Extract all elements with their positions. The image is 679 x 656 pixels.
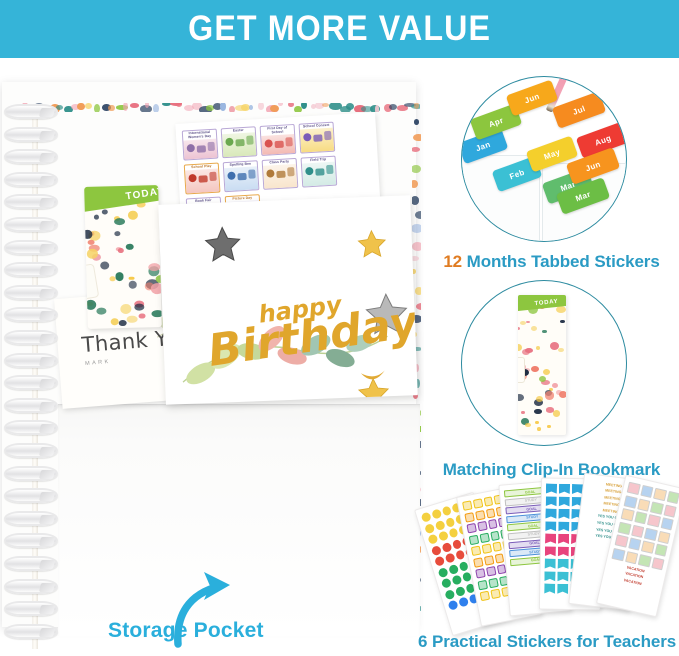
binding-ring	[4, 330, 58, 345]
icon-sticker	[490, 589, 500, 600]
dot-sticker	[444, 552, 455, 563]
floral-petal	[375, 105, 380, 112]
event-sticker: Field Trip	[301, 156, 338, 188]
dot-sticker	[437, 567, 448, 578]
floral-petal	[249, 105, 253, 110]
flag-sticker	[545, 559, 556, 569]
icon-sticker	[477, 579, 487, 590]
floral-dot	[94, 215, 99, 220]
icon-sticker	[479, 532, 489, 543]
floral-petal	[412, 165, 421, 173]
event-sticker: International Women's Day	[182, 129, 219, 161]
floral-dot	[525, 348, 533, 354]
binding-ring	[4, 533, 58, 548]
binding-ring	[4, 624, 58, 639]
icon-sticker	[483, 496, 493, 507]
feature-circle-bookmark: TODAY	[461, 280, 627, 446]
floral-dot	[115, 272, 124, 281]
binding-ring	[4, 307, 58, 322]
floral-dot	[129, 276, 135, 280]
dot-sticker	[434, 556, 445, 567]
floral-dot	[531, 326, 537, 331]
binding-ring	[4, 285, 58, 300]
event-sticker: Class Party	[262, 158, 299, 190]
flag-sticker	[558, 521, 569, 531]
month-tab-label: Jun	[523, 91, 541, 105]
floral-dot	[96, 308, 107, 315]
floral-petal	[108, 105, 114, 112]
floral-petal	[412, 147, 420, 152]
floral-dot	[534, 409, 542, 414]
dot-sticker	[444, 589, 455, 600]
event-sticker-art	[302, 162, 336, 187]
image-sticker	[637, 498, 651, 511]
floral-dot	[559, 391, 566, 398]
event-sticker-art	[222, 132, 256, 157]
dot-sticker	[451, 574, 462, 585]
event-sticker: First Day of School	[260, 124, 297, 156]
floral-dot	[547, 425, 550, 428]
binding-ring	[4, 601, 58, 616]
binding-ring	[4, 127, 58, 142]
floral-dot	[553, 410, 560, 416]
floral-petal	[412, 242, 421, 251]
dot-sticker	[458, 596, 469, 607]
binding-ring	[4, 353, 58, 368]
binding-ring	[4, 172, 58, 187]
caption-rest-practical: Practical Stickers for Teachers	[427, 632, 676, 651]
floral-dot	[542, 330, 546, 333]
floral-border-top	[20, 103, 420, 112]
floral-dot	[545, 391, 555, 399]
image-sticker	[628, 537, 642, 550]
floral-petal	[77, 103, 84, 110]
flag-sticker	[545, 534, 556, 544]
bookmark-today-tab: TODAY	[84, 185, 162, 213]
flag-sticker	[559, 496, 570, 506]
floral-petal	[412, 180, 418, 188]
floral-dot	[151, 310, 162, 318]
image-sticker	[663, 504, 677, 517]
clip-in-bookmark-hero: TODAY	[84, 185, 162, 329]
image-sticker	[638, 554, 652, 567]
floral-dot	[535, 421, 539, 424]
month-tab-label: Aug	[594, 133, 613, 147]
binding-ring	[4, 104, 58, 119]
floral-petal	[176, 103, 182, 107]
flag-sticker	[545, 521, 556, 531]
image-sticker	[651, 557, 665, 570]
flag-sticker	[544, 571, 555, 581]
planner-page: Thank You MARK TODAY International Women…	[2, 82, 416, 627]
floral-dot	[85, 300, 96, 311]
image-sticker	[625, 550, 639, 563]
floral-petal	[322, 103, 329, 107]
image-sticker	[644, 527, 658, 540]
icon-sticker	[488, 577, 498, 588]
birthday-card: happy Birthday	[158, 195, 417, 405]
event-sticker-art	[300, 128, 334, 153]
floral-dot	[536, 396, 543, 402]
floral-dot	[120, 304, 131, 314]
icon-sticker	[462, 500, 472, 511]
floral-petal	[415, 287, 421, 295]
icon-sticker	[486, 566, 496, 577]
floral-dot	[560, 320, 565, 324]
dot-sticker	[424, 523, 435, 534]
binding-ring	[4, 466, 58, 481]
event-sticker-art	[224, 166, 258, 191]
flag-sticker	[559, 484, 570, 494]
storage-pocket-label: Storage Pocket	[108, 619, 348, 643]
floral-petal	[346, 103, 354, 110]
floral-dot	[526, 321, 530, 324]
dot-sticker	[431, 545, 442, 556]
month-tab-label: May	[543, 147, 562, 161]
bookmark-today-label: TODAY	[125, 186, 162, 203]
floral-dot	[88, 240, 95, 245]
event-sticker-art	[261, 134, 295, 155]
binding-ring	[4, 240, 58, 255]
flag-sticker	[557, 571, 568, 581]
icon-sticker	[473, 498, 483, 509]
flag-sticker	[558, 534, 569, 544]
month-tab-label: Jul	[571, 104, 586, 117]
floral-dot	[531, 366, 539, 372]
binding-ring	[4, 556, 58, 571]
image-sticker	[615, 534, 629, 547]
flag-sticker	[558, 559, 569, 569]
flag-sticker	[544, 584, 555, 594]
floral-dot	[550, 342, 559, 350]
floral-petal	[258, 103, 264, 110]
dot-sticker	[458, 560, 469, 571]
dot-sticker	[448, 527, 459, 538]
bookmark-clip-arm	[518, 357, 525, 383]
binding-ring	[4, 375, 58, 390]
flag-sticker	[546, 484, 557, 494]
floral-petal	[412, 256, 419, 261]
icon-sticker	[475, 510, 485, 521]
icon-sticker	[484, 555, 494, 566]
floral-dot	[151, 283, 162, 294]
event-sticker-art	[185, 168, 219, 193]
floral-dot	[552, 383, 558, 388]
dot-sticker	[448, 563, 459, 574]
floral-petal	[94, 104, 100, 112]
binding-ring	[4, 217, 58, 232]
flag-sticker	[545, 546, 556, 556]
bookmark-clip	[84, 263, 99, 300]
floral-petal	[85, 103, 92, 109]
feature-callouts-column: JanFebAprJunMayMarJulAugJunMar 12 Months…	[424, 62, 679, 656]
month-tab-label: Jan	[474, 139, 491, 153]
floral-petal	[414, 103, 419, 109]
dot-sticker	[421, 512, 432, 523]
dot-sticker	[434, 519, 445, 530]
image-sticker	[624, 495, 638, 508]
binding-ring	[4, 420, 58, 435]
dot-sticker	[447, 600, 458, 611]
image-sticker	[647, 514, 661, 527]
icon-sticker	[480, 591, 490, 602]
floral-dot	[128, 210, 138, 220]
floral-petal	[153, 104, 159, 112]
icon-sticker	[473, 557, 483, 568]
floral-dot	[102, 209, 108, 215]
dot-sticker	[441, 505, 452, 516]
image-sticker	[650, 501, 664, 514]
floral-dot	[525, 423, 531, 427]
floral-dot	[537, 427, 542, 431]
binding-ring	[4, 194, 58, 209]
floral-dot	[126, 243, 134, 249]
flag-sticker	[546, 496, 557, 506]
dot-sticker	[454, 585, 465, 596]
icon-sticker	[485, 508, 495, 519]
icon-sticker	[492, 541, 502, 552]
month-tab-label: Feb	[508, 167, 526, 181]
clip-in-bookmark: TODAY	[518, 295, 566, 435]
floral-petal	[278, 103, 283, 106]
floral-petal	[301, 103, 307, 109]
floral-dot	[84, 230, 92, 239]
image-sticker	[666, 491, 679, 504]
icon-sticker	[469, 534, 479, 545]
event-sticker: Spelling Bee	[223, 160, 260, 192]
image-sticker	[621, 508, 635, 521]
month-tab-label: Mar	[574, 189, 592, 203]
floral-dot	[110, 277, 116, 281]
icon-sticker	[481, 543, 491, 554]
image-sticker	[612, 547, 626, 560]
sticker-sheets-fan: GOALSTUDYGOALSTUDYGOALSTUDYGOALSTUDYGOAL…	[426, 472, 678, 627]
caption-number-6: 6	[418, 632, 427, 651]
flag-sticker	[558, 509, 569, 519]
floral-dot	[536, 346, 540, 350]
icon-sticker	[490, 530, 500, 541]
header-banner: GET MORE VALUE	[0, 0, 679, 58]
image-sticker	[634, 511, 648, 524]
floral-dot	[134, 303, 145, 310]
floral-petal	[130, 103, 139, 108]
caption-practical-stickers: 6 Practical Stickers for Teachers	[418, 632, 673, 652]
image-sticker	[657, 530, 671, 543]
floral-petal	[414, 119, 419, 125]
floral-petal	[288, 103, 293, 107]
floral-dot	[101, 261, 110, 269]
image-sticker	[654, 543, 668, 556]
image-sticker	[641, 540, 655, 553]
binding-ring	[4, 511, 58, 526]
month-tab-label: Apr	[487, 115, 504, 129]
binding-ring	[4, 488, 58, 503]
floral-petal	[415, 211, 421, 219]
floral-dot	[118, 248, 124, 253]
image-sticker	[627, 482, 641, 495]
floral-dot	[119, 320, 127, 326]
hero-product-photo: Thank You MARK TODAY International Women…	[0, 62, 424, 656]
icon-sticker	[494, 553, 504, 564]
binding-ring	[4, 579, 58, 594]
binding-ring	[4, 262, 58, 277]
month-tab-label: Jun	[584, 159, 602, 173]
event-sticker-art	[183, 138, 217, 159]
floral-petal	[220, 103, 227, 111]
event-sticker: School Play	[184, 163, 221, 195]
feature-circle-tabbed-stickers: JanFebAprJunMayMarJulAugJunMar	[461, 76, 627, 242]
floral-petal	[416, 303, 421, 311]
floral-petal	[270, 105, 279, 112]
floral-dot	[518, 394, 524, 401]
floral-petal	[412, 196, 419, 204]
dot-sticker	[451, 538, 462, 549]
event-sticker-art	[263, 164, 297, 189]
caption-rest-tabbed: Months Tabbed Stickers	[462, 252, 660, 271]
icon-sticker	[488, 519, 498, 530]
dot-sticker	[441, 541, 452, 552]
floral-dot	[114, 231, 121, 236]
floral-dot	[114, 218, 126, 225]
image-sticker	[653, 488, 667, 501]
caption-tabbed-stickers: 12 Months Tabbed Stickers	[424, 252, 679, 272]
floral-petal	[412, 224, 421, 233]
spiral-binding	[2, 104, 60, 649]
dot-sticker	[427, 534, 438, 545]
floral-dot	[127, 315, 137, 323]
binding-ring	[4, 398, 58, 413]
flag-sticker	[545, 509, 556, 519]
dot-sticker	[455, 549, 466, 560]
dot-sticker	[431, 508, 442, 519]
dot-sticker	[445, 516, 456, 527]
dot-sticker	[438, 530, 449, 541]
product-feature-image: GET MORE VALUE	[0, 0, 679, 656]
floral-petal	[413, 134, 421, 142]
image-sticker	[660, 517, 674, 530]
icon-sticker	[466, 523, 476, 534]
floral-dot	[521, 411, 524, 414]
floral-dot	[543, 369, 550, 375]
binding-ring	[4, 443, 58, 458]
event-sticker: Easter	[221, 126, 258, 158]
bookmark-today-label-2: TODAY	[534, 299, 558, 307]
floral-dot	[128, 281, 137, 289]
icon-sticker	[464, 512, 474, 523]
floral-dot	[139, 313, 146, 319]
month-tab: Jul	[552, 91, 607, 129]
floral-dot	[546, 407, 554, 412]
floral-dot	[111, 319, 119, 326]
icon-sticker	[475, 568, 485, 579]
image-sticker	[618, 521, 632, 534]
image-sticker	[640, 485, 654, 498]
floral-petal	[123, 103, 128, 111]
banner-title: GET MORE VALUE	[188, 9, 491, 49]
binding-ring	[4, 149, 58, 164]
floral-dot	[558, 348, 564, 352]
event-sticker: School Concert	[299, 122, 336, 154]
caption-number-12: 12	[443, 252, 462, 271]
floral-petal	[229, 106, 235, 112]
flag-sticker	[557, 584, 568, 594]
icon-sticker	[477, 521, 487, 532]
floral-dot	[520, 321, 526, 325]
dot-sticker	[441, 578, 452, 589]
icon-sticker	[471, 546, 481, 557]
image-sticker	[631, 524, 645, 537]
flag-sticker	[558, 546, 569, 556]
floral-dot	[518, 327, 520, 330]
